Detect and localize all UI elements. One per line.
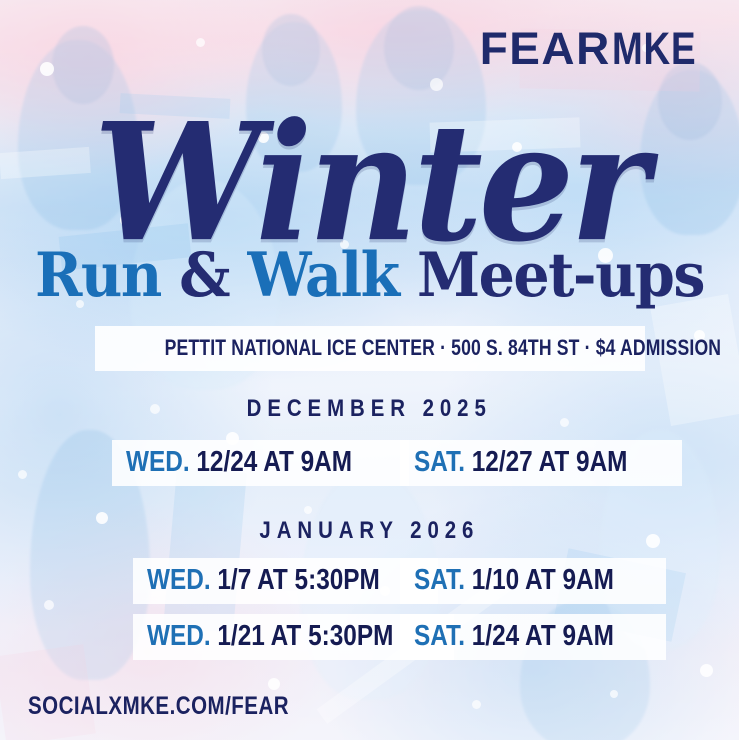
event-day-label: SAT. <box>414 564 465 596</box>
month-heading-december-label: DECEMBER 2025 <box>247 395 492 423</box>
brand-mke: MKE <box>612 26 696 71</box>
event-date-dec-24[interactable]: WED. 12/24 AT 9AM <box>112 440 409 486</box>
event-date-jan-7[interactable]: WED. 1/7 AT 5:30PM <box>133 558 438 604</box>
event-date-time-label: 1/24 AT 9AM <box>472 620 614 652</box>
event-day-label: WED. <box>147 620 211 652</box>
event-day-label: WED. <box>126 446 190 478</box>
page-subtitle: Run & Walk Meet-ups <box>0 245 739 305</box>
month-heading-december: DECEMBER 2025 <box>0 395 739 423</box>
event-date-jan-24[interactable]: SAT. 1/24 AT 9AM <box>400 614 666 660</box>
event-date-dec-27[interactable]: SAT. 12/27 AT 9AM <box>400 440 682 486</box>
subtitle-meetups: Meet-ups <box>417 240 704 311</box>
event-date-time-label: 1/10 AT 9AM <box>472 564 614 596</box>
month-heading-january-label: JANUARY 2026 <box>260 517 480 545</box>
event-date-time-label: 12/27 AT 9AM <box>472 446 628 478</box>
event-date-time-label: 1/21 AT 5:30PM <box>217 620 393 652</box>
footer-website-url-label: SOCIALXMKE.COM/FEAR <box>28 692 289 721</box>
venue-text: PETTIT NATIONAL ICE CENTER · 500 S. 84TH… <box>165 335 722 361</box>
event-day-label: WED. <box>147 564 211 596</box>
venue-banner: PETTIT NATIONAL ICE CENTER · 500 S. 84TH… <box>95 326 645 371</box>
event-day-label: SAT. <box>414 446 465 478</box>
event-day-label: SAT. <box>414 620 465 652</box>
subtitle-walk: Walk <box>247 240 398 311</box>
month-heading-january: JANUARY 2026 <box>0 517 739 545</box>
brand-fear: FEAR <box>479 26 610 71</box>
event-date-jan-10[interactable]: SAT. 1/10 AT 9AM <box>400 558 666 604</box>
subtitle-ampersand: & <box>179 240 229 311</box>
brand-logo: FEARMKE <box>481 26 716 71</box>
event-date-time-label: 1/7 AT 5:30PM <box>217 564 379 596</box>
subtitle-run: Run <box>35 240 161 311</box>
event-date-time-label: 12/24 AT 9AM <box>196 446 352 478</box>
event-flyer: FEARMKE Winter Run & Walk Meet-ups PETTI… <box>0 0 739 740</box>
footer-website-url[interactable]: SOCIALXMKE.COM/FEAR <box>28 692 346 721</box>
